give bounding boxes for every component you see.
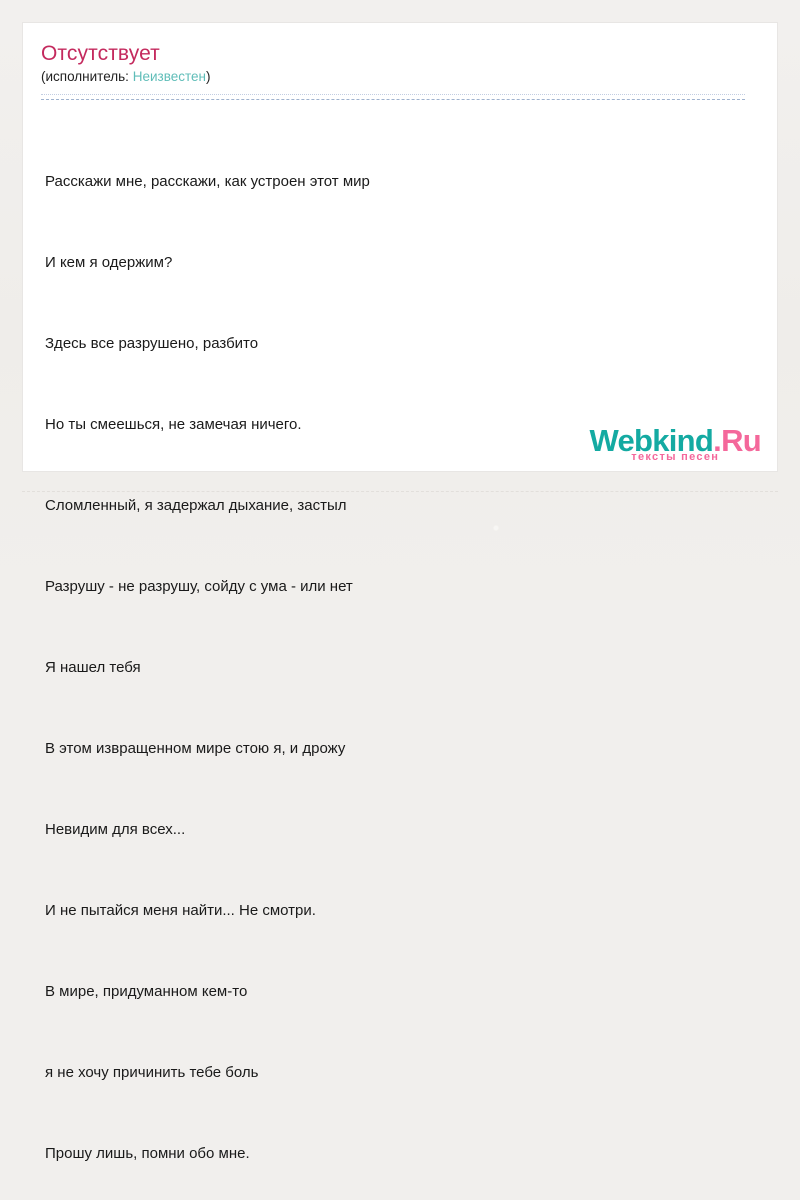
artist-suffix: ): [206, 69, 211, 84]
lyrics-line: Разрушу - не разрушу, сойду с ума - или …: [45, 573, 761, 600]
site-logo[interactable]: Webkind.Ru тексты песен: [589, 425, 761, 463]
lyrics-body: Расскажи мне, расскажи, как устроен этот…: [41, 100, 761, 1200]
lyrics-card-inner: Отсутствует (исполнитель: Неизвестен) Ра…: [23, 23, 777, 471]
artist-label: (исполнитель:: [41, 69, 129, 84]
lyrics-line: В этом извращенном мире стою я, и дрожу: [45, 735, 761, 762]
lyrics-line: И не пытайся меня найти... Не смотри.: [45, 897, 761, 924]
song-title: Отсутствует: [41, 41, 761, 67]
lyrics-line: И кем я одержим?: [45, 249, 761, 276]
lyrics-line: Прошу лишь, помни обо мне.: [45, 1140, 761, 1167]
lyrics-line: я не хочу причинить тебе боль: [45, 1059, 761, 1086]
lyrics-line: Невидим для всех...: [45, 816, 761, 843]
site-logo-tld: .Ru: [713, 423, 761, 458]
lyrics-line: Я нашел тебя: [45, 654, 761, 681]
lyrics-line: Расскажи мне, расскажи, как устроен этот…: [45, 168, 761, 195]
lyrics-line: Сломленный, я задержал дыхание, застыл: [45, 492, 761, 519]
header-divider: [41, 94, 745, 100]
lyrics-card: Отсутствует (исполнитель: Неизвестен) Ра…: [22, 22, 778, 472]
artist-line: (исполнитель: Неизвестен): [41, 68, 761, 94]
footer-divider: [22, 491, 778, 492]
artist-link[interactable]: Неизвестен: [133, 69, 206, 84]
lyrics-line: Здесь все разрушено, разбито: [45, 330, 761, 357]
lyrics-line: В мире, придуманном кем-то: [45, 978, 761, 1005]
